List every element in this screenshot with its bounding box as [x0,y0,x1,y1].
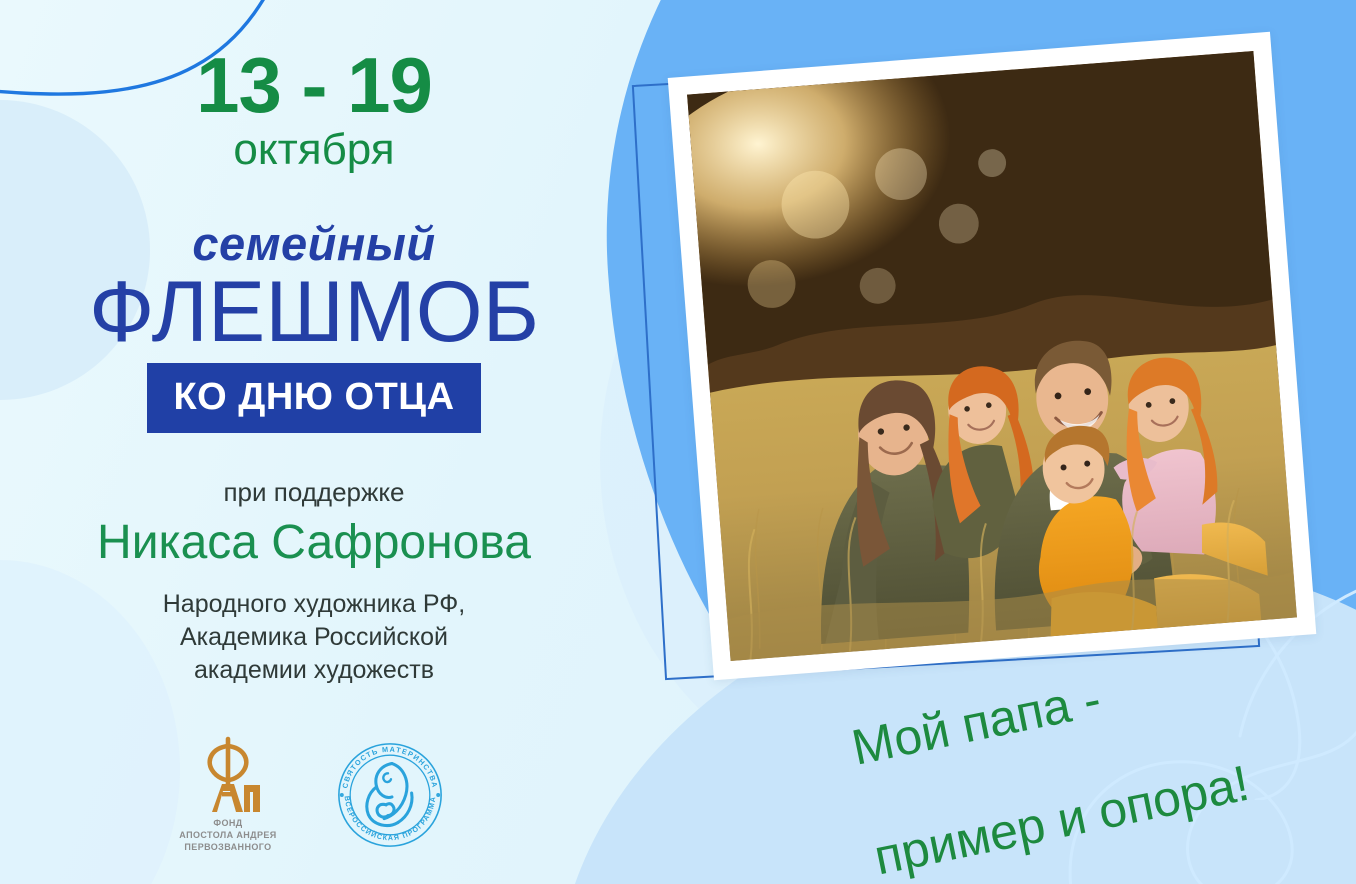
faap-text-line-2: АПОСТОЛА АНДРЕЯ [179,829,276,841]
seal-arc-top-text: СВЯТОСТЬ МАТЕРИНСТВА [340,745,440,790]
support-role-line-1: Народного художника РФ, [97,588,531,621]
support-block: при поддержке Никаса Сафронова Народного… [97,477,531,686]
svg-text:СВЯТОСТЬ МАТЕРИНСТВА: СВЯТОСТЬ МАТЕРИНСТВА [340,745,440,790]
logo-row: ФОНД АПОСТОЛА АНДРЕЯ ПЕРВОЗВАННОГО СВЯТО… [0,736,628,854]
logo-faap: ФОНД АПОСТОЛА АНДРЕЯ ПЕРВОЗВАННОГО [179,736,276,853]
support-role-line-2: Академика Российской [97,621,531,654]
family-photo [687,51,1297,661]
faap-logo-text: ФОНД АПОСТОЛА АНДРЕЯ ПЕРВОЗВАННОГО [179,817,276,853]
support-role: Народного художника РФ, Академика Россий… [97,588,531,687]
title-badge: КО ДНЮ ОТЦА [147,363,480,433]
event-date-range: 13 - 19 [196,48,432,122]
motherhood-program-seal-icon: СВЯТОСТЬ МАТЕРИНСТВА ВСЕРОССИЙСКАЯ ПРОГР… [331,736,449,854]
support-prefix: при поддержке [97,477,531,508]
slogan-line-1: Мой папа - [847,671,1105,776]
title-block: семейный ФЛЕШМОБ КО ДНЮ ОТЦА [89,220,539,433]
logo-svyatost-materinstva: СВЯТОСТЬ МАТЕРИНСТВА ВСЕРОССИЙСКАЯ ПРОГР… [331,736,449,854]
photo-white-card [668,32,1317,681]
poster-root: 13 - 19 октября семейный ФЛЕШМОБ КО ДНЮ … [0,0,1356,884]
event-date-month: октября [233,126,394,174]
faap-text-line-3: ПЕРВОЗВАННОГО [179,841,276,853]
support-name: Никаса Сафронова [97,515,531,570]
title-main: ФЛЕШМОБ [89,269,539,355]
faap-monogram-icon [192,736,264,814]
family-photo-illustration [687,51,1297,661]
support-role-line-3: академии художеств [97,654,531,687]
faap-text-line-1: ФОНД [179,817,276,829]
title-script: семейный [89,220,539,267]
